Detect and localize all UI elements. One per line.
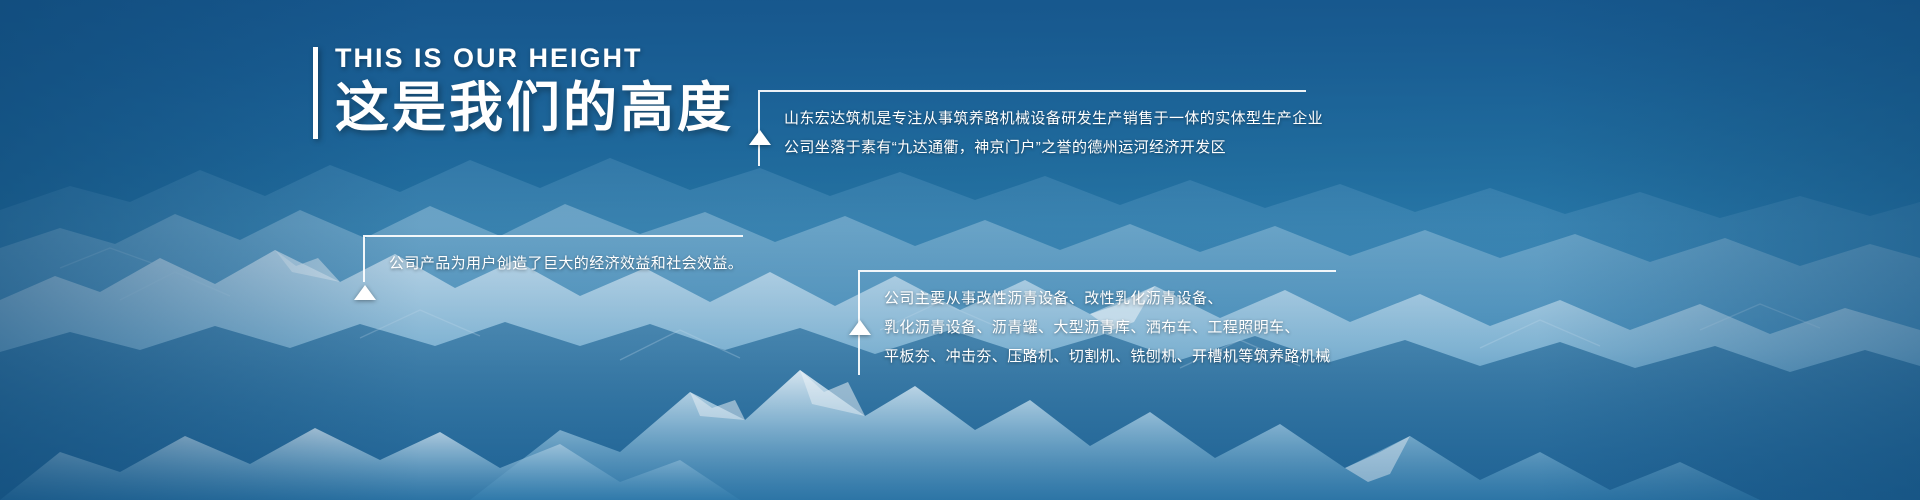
snow-mountain-range-image — [0, 0, 1920, 500]
callout-products: 公司主要从事改性沥青设备、改性乳化沥青设备、 乳化沥青设备、沥青罐、大型沥青库、… — [858, 270, 1336, 375]
callout-products-line-2: 乳化沥青设备、沥青罐、大型沥青库、洒布车、工程照明车、 — [884, 313, 1336, 342]
callout-benefit: 公司产品为用户创造了巨大的经济效益和社会效益。 — [363, 235, 743, 282]
hero-banner: THIS IS OUR HEIGHT 这是我们的高度 山东宏达筑机是专注从事筑养… — [0, 0, 1920, 500]
callout-products-line-1: 公司主要从事改性沥青设备、改性乳化沥青设备、 — [884, 284, 1336, 313]
callout-company-line-1: 山东宏达筑机是专注从事筑养路机械设备研发生产销售于一体的实体型生产企业 — [784, 104, 1306, 133]
triangle-up-marker — [354, 285, 376, 300]
title-accent-bar — [313, 47, 318, 139]
title-english: THIS IS OUR HEIGHT — [335, 44, 734, 72]
callout-company: 山东宏达筑机是专注从事筑养路机械设备研发生产销售于一体的实体型生产企业 公司坐落… — [758, 90, 1306, 166]
callout-products-line-3: 平板夯、冲击夯、压路机、切割机、铣刨机、开槽机等筑养路机械 — [884, 342, 1336, 371]
title-chinese: 这是我们的高度 — [335, 76, 734, 142]
callout-company-line-2: 公司坐落于素有“九达通衢，神京门户”之誉的德州运河经济开发区 — [784, 133, 1306, 162]
page-title: THIS IS OUR HEIGHT 这是我们的高度 — [313, 44, 734, 142]
triangle-up-marker — [849, 320, 871, 335]
triangle-up-marker — [749, 130, 771, 145]
callout-benefit-line-1: 公司产品为用户创造了巨大的经济效益和社会效益。 — [389, 249, 743, 278]
